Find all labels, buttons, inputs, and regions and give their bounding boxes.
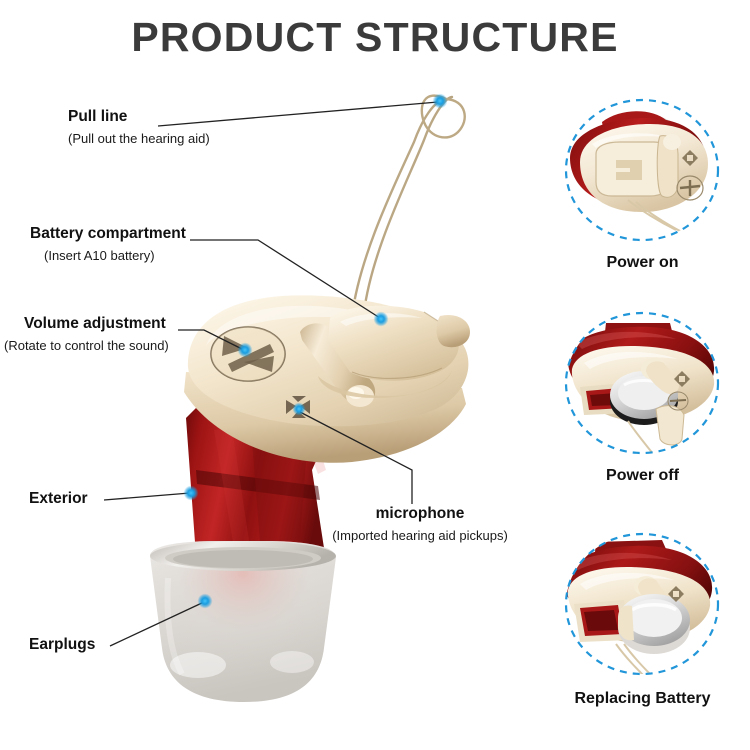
callout-pull-line: Pull line (Pull out the hearing aid)	[68, 108, 210, 146]
callout-exterior-label: Exterior	[29, 490, 88, 508]
inset-power-on[interactable]: Power on	[550, 92, 735, 272]
inset-replacing-battery[interactable]: Replacing Battery	[550, 528, 735, 708]
callout-microphone-sub: (Imported hearing aid pickups)	[325, 528, 515, 544]
inset-power-off-caption: Power off	[550, 467, 735, 485]
silicone-earplug-dome	[150, 541, 336, 702]
inset-power-off[interactable]: Power off	[550, 305, 735, 485]
volume-wheel[interactable]	[211, 327, 285, 381]
callout-pull-line-sub: (Pull out the hearing aid)	[68, 131, 210, 147]
callout-volume-adjustment-sub: (Rotate to control the sound)	[4, 338, 169, 354]
callout-microphone: microphone (Imported hearing aid pickups…	[325, 505, 515, 543]
callout-earplugs: Earplugs	[29, 636, 95, 654]
inset-replacing-battery-caption: Replacing Battery	[550, 690, 735, 708]
callout-battery-compartment-sub: (Insert A10 battery)	[44, 248, 186, 264]
infographic-canvas: PRODUCT STRUCTURE	[0, 0, 750, 750]
inset-power-on-caption: Power on	[550, 254, 735, 272]
callout-volume-adjustment: Volume adjustment (Rotate to control the…	[24, 315, 169, 353]
inset-replacing-battery-image	[550, 528, 735, 688]
callout-battery-compartment: Battery compartment (Insert A10 battery)	[30, 225, 186, 263]
pull-line-loop	[352, 96, 465, 316]
callout-battery-compartment-label: Battery compartment	[30, 225, 186, 243]
callout-pull-line-label: Pull line	[68, 108, 210, 126]
callout-microphone-label: microphone	[325, 505, 515, 523]
callout-volume-adjustment-label: Volume adjustment	[24, 315, 169, 333]
callout-earplugs-label: Earplugs	[29, 636, 95, 654]
inset-power-on-image	[550, 92, 735, 252]
inset-power-off-image	[550, 305, 735, 465]
callout-exterior: Exterior	[29, 490, 88, 508]
